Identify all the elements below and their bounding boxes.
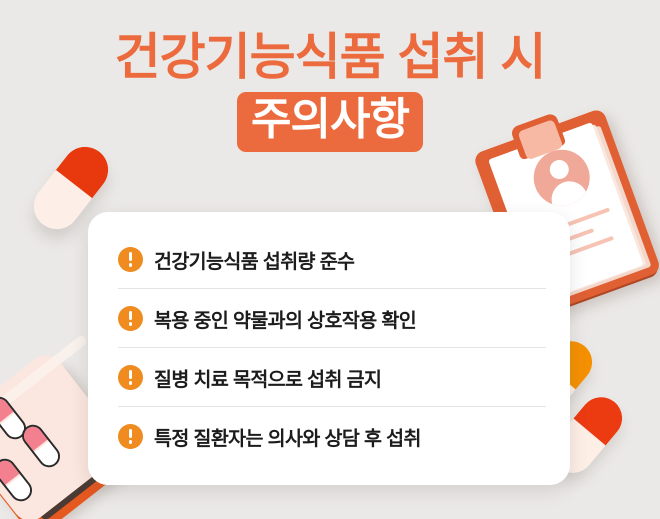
list-item-label: 특정 질환자는 의사와 상담 후 섭취 — [154, 422, 421, 451]
list-item: 질병 치료 목적으로 섭취 금지 — [118, 348, 546, 407]
exclamation-circle-icon — [118, 424, 143, 449]
notice-list: 건강기능식품 섭취량 준수 복용 중인 약물과의 상호작용 확인 질병 치료 목… — [118, 230, 546, 465]
list-item: 특정 질환자는 의사와 상담 후 섭취 — [118, 407, 546, 465]
notice-card: 건강기능식품 섭취량 준수 복용 중인 약물과의 상호작용 확인 질병 치료 목… — [88, 212, 570, 485]
title-line-2-wrapper: 주의사항 — [0, 92, 660, 152]
list-item-label: 복용 중인 약물과의 상호작용 확인 — [154, 304, 416, 333]
list-item-label: 질병 치료 목적으로 섭취 금지 — [154, 363, 381, 392]
exclamation-circle-icon — [118, 365, 143, 390]
infographic-poster: 건강기능식품 섭취 시 주의사항 건강기능식품 섭취량 준수 복용 중인 약물과… — [0, 0, 660, 519]
avatar-head — [547, 157, 571, 181]
poster-title: 건강기능식품 섭취 시 주의사항 — [0, 26, 660, 152]
exclamation-circle-icon — [118, 247, 143, 272]
title-line-1: 건강기능식품 섭취 시 — [0, 26, 660, 88]
exclamation-circle-icon — [118, 306, 143, 331]
list-item: 복용 중인 약물과의 상호작용 확인 — [118, 289, 546, 348]
list-item-label: 건강기능식품 섭취량 준수 — [154, 245, 354, 274]
title-highlight-badge: 주의사항 — [237, 92, 423, 152]
list-item: 건강기능식품 섭취량 준수 — [118, 230, 546, 289]
